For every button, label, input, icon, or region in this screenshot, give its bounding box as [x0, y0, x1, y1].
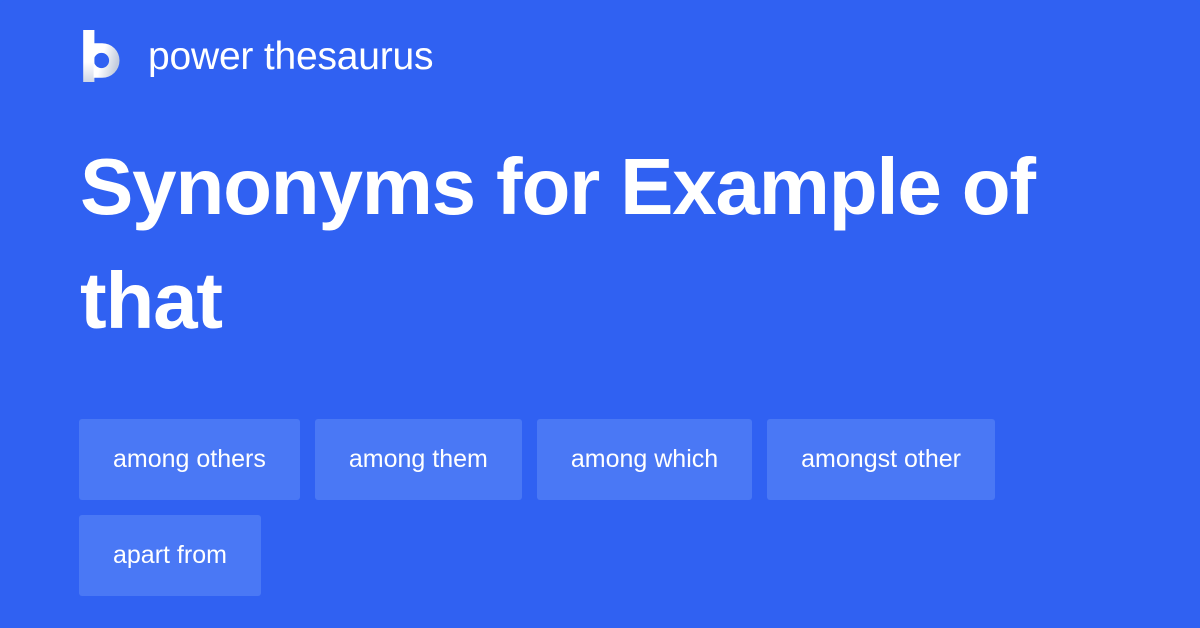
- power-thesaurus-b-logo-icon: [80, 30, 126, 82]
- share-card: power thesaurus Synonyms for Example of …: [0, 0, 1200, 628]
- synonym-tag-list: among others among them among which amon…: [79, 419, 1119, 596]
- synonym-tag[interactable]: apart from: [79, 515, 261, 596]
- synonym-tag[interactable]: among them: [315, 419, 522, 500]
- synonym-tag[interactable]: among others: [79, 419, 300, 500]
- synonym-tag[interactable]: among which: [537, 419, 752, 500]
- page-title: Synonyms for Example of that: [80, 130, 1090, 357]
- brand-name: power thesaurus: [148, 37, 433, 76]
- synonym-tag[interactable]: amongst other: [767, 419, 995, 500]
- brand-header[interactable]: power thesaurus: [80, 28, 433, 84]
